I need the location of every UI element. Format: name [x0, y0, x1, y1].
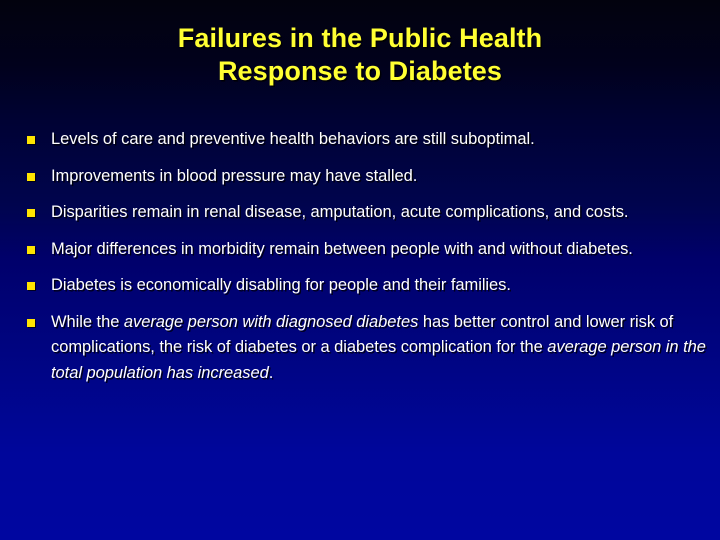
bullet-list: Levels of care and preventive health beh… — [24, 127, 708, 397]
square-bullet-icon — [27, 319, 35, 327]
bullet-item-text: Major differences in morbidity remain be… — [51, 240, 633, 258]
square-bullet-icon — [27, 173, 35, 181]
bullet-item: While the average person with diagnosed … — [24, 310, 708, 387]
bullet-item-text: While the average person with diagnosed … — [51, 313, 706, 382]
bullet-item: Improvements in blood pressure may have … — [24, 164, 708, 190]
bullet-item: Major differences in morbidity remain be… — [24, 237, 708, 263]
bullet-item-text: Diabetes is economically disabling for p… — [51, 276, 511, 294]
presentation-slide: Failures in the Public Health Response t… — [0, 0, 720, 540]
square-bullet-icon — [27, 209, 35, 217]
bullet-item: Diabetes is economically disabling for p… — [24, 273, 708, 299]
slide-title-line-1: Failures in the Public Health — [0, 22, 720, 55]
square-bullet-icon — [27, 136, 35, 144]
slide-title: Failures in the Public Health Response t… — [0, 22, 720, 88]
emphasized-phrase: average person with diagnosed diabetes — [124, 313, 418, 331]
square-bullet-icon — [27, 282, 35, 290]
bullet-item: Disparities remain in renal disease, amp… — [24, 200, 708, 226]
bullet-item-text: Disparities remain in renal disease, amp… — [51, 203, 628, 221]
slide-title-line-2: Response to Diabetes — [0, 55, 720, 88]
bullet-item: Levels of care and preventive health beh… — [24, 127, 708, 153]
bullet-item-text: Improvements in blood pressure may have … — [51, 167, 417, 185]
square-bullet-icon — [27, 246, 35, 254]
bullet-item-text: Levels of care and preventive health beh… — [51, 130, 535, 148]
